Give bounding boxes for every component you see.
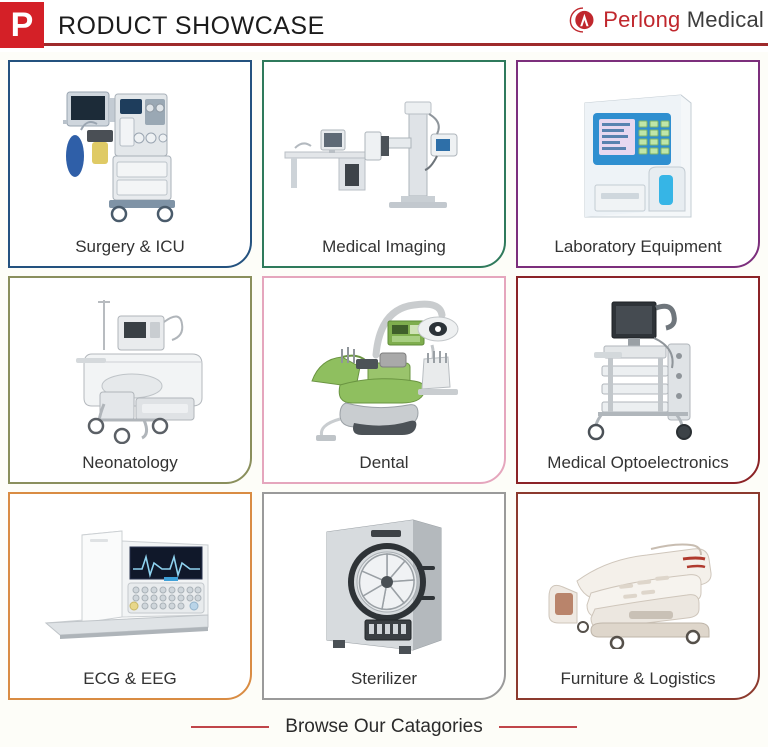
category-card-sterilizer[interactable]: Sterilizer <box>262 492 506 700</box>
brand-initial-badge: P <box>0 2 44 48</box>
header-divider-rule <box>0 43 768 46</box>
card-image-dental <box>264 278 504 454</box>
company-name: Perlong Medical <box>603 7 764 33</box>
category-card-medical-imaging[interactable]: Medical Imaging <box>262 60 506 268</box>
footer-rule-right <box>499 726 577 728</box>
company-logo: Perlong Medical <box>561 6 764 34</box>
category-card-medical-optoelectronics[interactable]: Medical Optoelectronics <box>516 276 760 484</box>
card-label-furniture-logistics: Furniture & Logistics <box>561 670 716 698</box>
category-card-dental[interactable]: Dental <box>262 276 506 484</box>
anesthesia-machine-image <box>35 78 225 226</box>
card-label-surgery-icu: Surgery & ICU <box>75 238 185 266</box>
card-image-sterilizer <box>264 494 504 670</box>
hematology-analyzer-image <box>563 77 713 227</box>
infant-incubator-image <box>40 292 220 444</box>
card-image-medical-imaging <box>264 62 504 238</box>
endoscopy-cart-image <box>558 292 718 444</box>
card-label-ecg-eeg: ECG & EEG <box>83 670 177 698</box>
card-image-laboratory-equipment <box>518 62 758 238</box>
card-label-sterilizer: Sterilizer <box>351 670 417 698</box>
dental-chair-image <box>284 293 484 443</box>
card-label-medical-imaging: Medical Imaging <box>322 238 446 266</box>
category-card-ecg-eeg[interactable]: ECG & EEG <box>8 492 252 700</box>
brand-name-secondary: Medical <box>680 7 764 32</box>
page-footer: Browse Our Catagories <box>0 700 768 754</box>
card-label-neonatology: Neonatology <box>82 454 177 482</box>
category-card-grid: Surgery & ICU <box>0 52 768 700</box>
footer-caption: Browse Our Catagories <box>285 716 482 738</box>
card-label-laboratory-equipment: Laboratory Equipment <box>554 238 721 266</box>
xray-system-image <box>277 82 492 222</box>
ecg-machine-image <box>30 519 230 649</box>
category-card-laboratory-equipment[interactable]: Laboratory Equipment <box>516 60 760 268</box>
page-header: P RODUCT SHOWCASE Perlong Medical <box>0 0 768 52</box>
page-title: RODUCT SHOWCASE <box>58 12 331 41</box>
autoclave-sterilizer-image <box>309 508 459 660</box>
category-card-furniture-logistics[interactable]: Furniture & Logistics <box>516 492 760 700</box>
card-label-medical-optoelectronics: Medical Optoelectronics <box>547 454 728 482</box>
card-image-ecg-eeg <box>10 494 250 670</box>
perlong-a-emblem-icon <box>569 6 597 34</box>
card-image-medical-optoelectronics <box>518 278 758 454</box>
hospital-bed-image <box>533 519 743 649</box>
card-image-furniture-logistics <box>518 494 758 670</box>
footer-rule-left <box>191 726 269 728</box>
card-label-dental: Dental <box>359 454 408 482</box>
category-card-surgery-icu[interactable]: Surgery & ICU <box>8 60 252 268</box>
brand-name-primary: Perlong <box>603 7 680 32</box>
card-image-surgery-icu <box>10 62 250 238</box>
category-card-neonatology[interactable]: Neonatology <box>8 276 252 484</box>
card-image-neonatology <box>10 278 250 454</box>
